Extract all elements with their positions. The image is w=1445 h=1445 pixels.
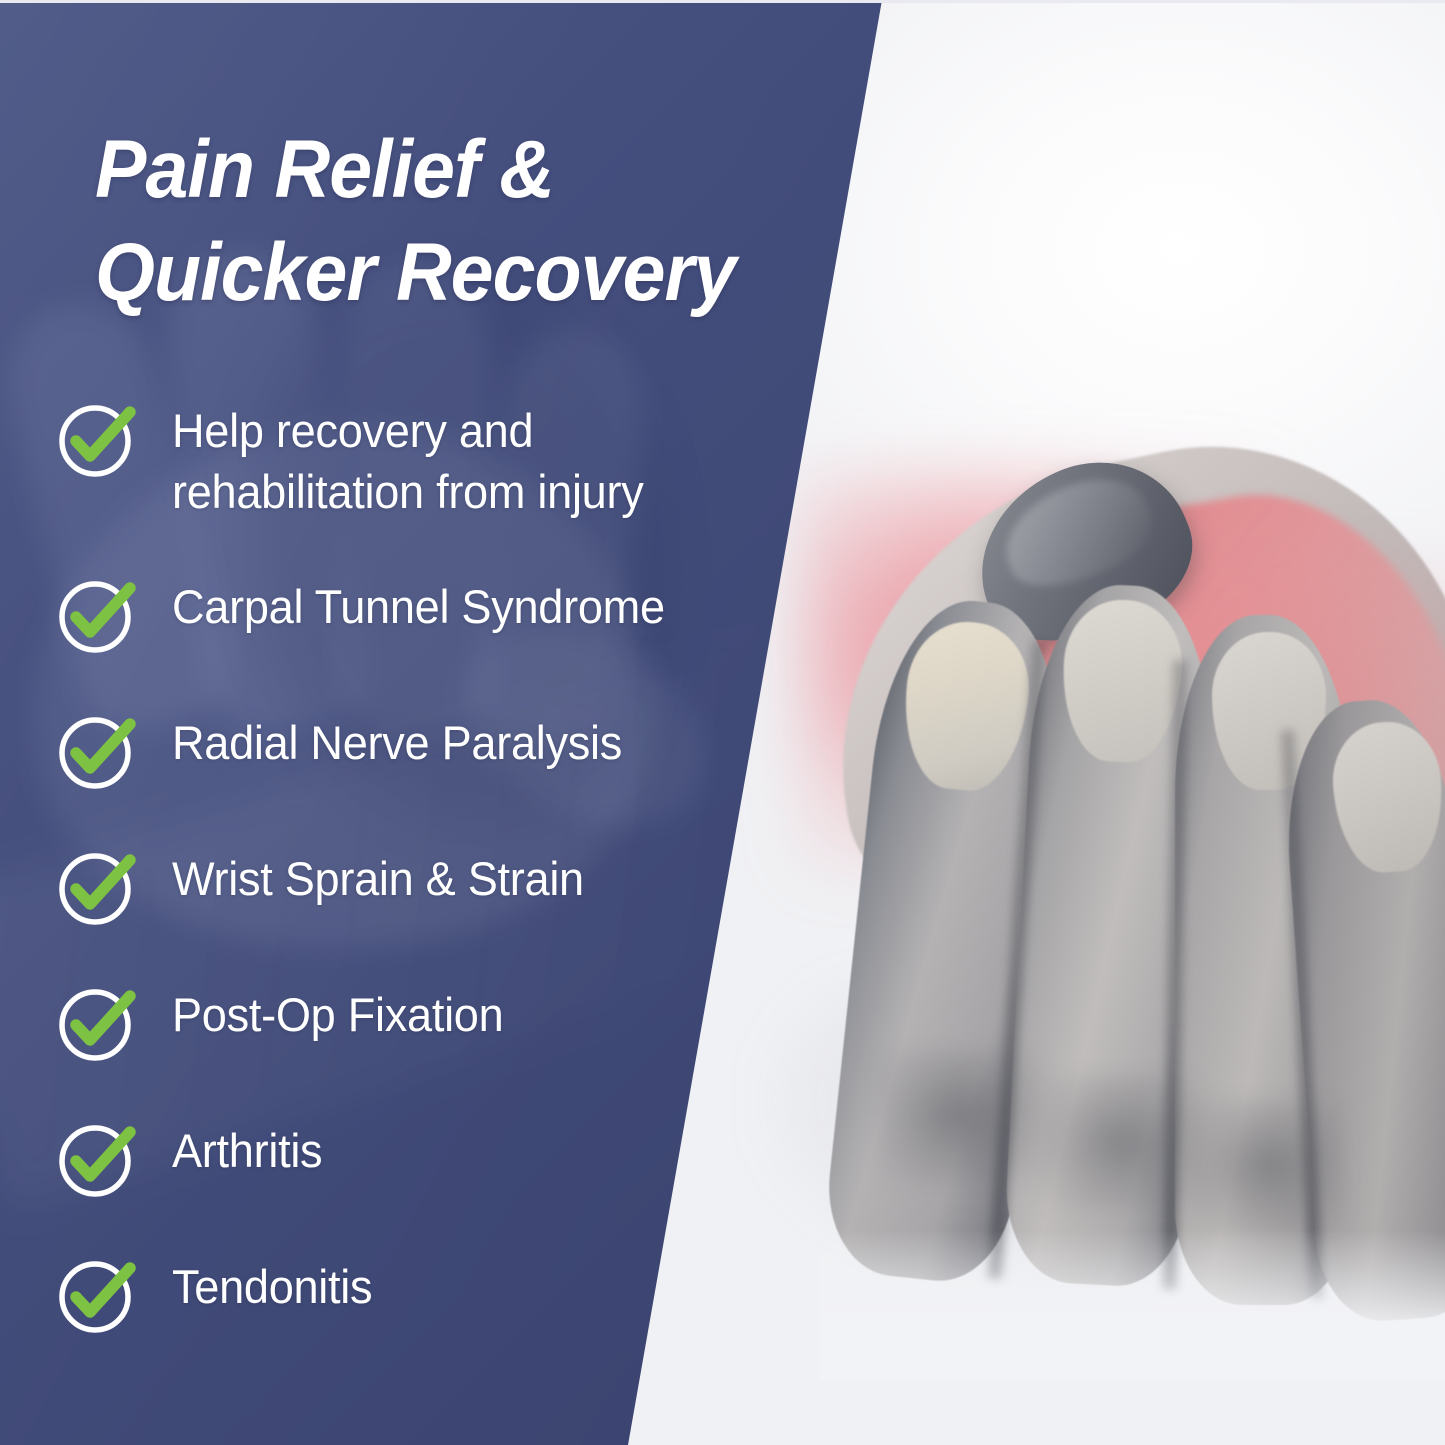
- list-item-tendonitis: Tendonitis: [56, 1252, 856, 1388]
- marketing-banner: Pain Relief & Quicker Recovery Help reco…: [0, 0, 1445, 1445]
- check-circle-icon: [56, 1120, 134, 1198]
- list-item-label: Arthritis: [172, 1116, 322, 1181]
- page-title: Pain Relief & Quicker Recovery: [95, 118, 828, 325]
- check-circle-icon: [56, 400, 134, 478]
- list-item-label: Wrist Sprain & Strain: [172, 844, 584, 909]
- list-item-post-op-fixation: Post-Op Fixation: [56, 980, 856, 1116]
- list-item-label: Carpal Tunnel Syndrome: [172, 572, 665, 637]
- knuckle-shading: [880, 1050, 1040, 1180]
- check-circle-icon: [56, 712, 134, 790]
- list-item-arthritis: Arthritis: [56, 1116, 856, 1252]
- list-item-recovery-rehabilitation: Help recovery and rehabilitation from in…: [56, 396, 856, 572]
- knuckle-shading: [1190, 1100, 1345, 1230]
- check-circle-icon: [56, 1256, 134, 1334]
- list-item-label: Radial Nerve Paralysis: [172, 708, 622, 773]
- check-circle-icon: [56, 984, 134, 1062]
- photo-bottom-fade: [820, 1230, 1445, 1380]
- benefits-list: Help recovery and rehabilitation from in…: [56, 396, 856, 1388]
- list-item-radial-nerve-paralysis: Radial Nerve Paralysis: [56, 708, 856, 844]
- list-item-label: Post-Op Fixation: [172, 980, 503, 1045]
- list-item-carpal-tunnel-syndrome: Carpal Tunnel Syndrome: [56, 572, 856, 708]
- list-item-wrist-sprain-strain: Wrist Sprain & Strain: [56, 844, 856, 980]
- check-circle-icon: [56, 848, 134, 926]
- list-item-label: Help recovery and rehabilitation from in…: [172, 396, 643, 522]
- list-item-label: Tendonitis: [172, 1252, 372, 1317]
- panel-content: Pain Relief & Quicker Recovery Help reco…: [0, 0, 900, 1445]
- check-circle-icon: [56, 576, 134, 654]
- knuckle-shading: [1040, 1075, 1200, 1210]
